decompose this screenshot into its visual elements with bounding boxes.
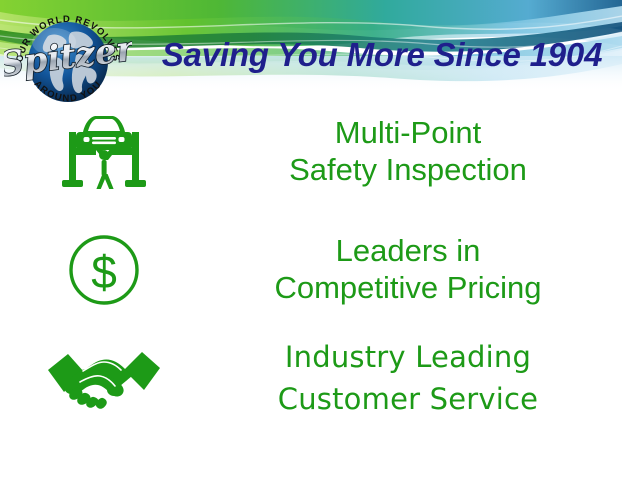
car-lift-icon-wrap	[0, 110, 208, 194]
dollar-circle-icon-wrap: $	[0, 230, 208, 310]
feature-line: Leaders in	[208, 233, 608, 270]
feature-line: Industry Leading	[208, 336, 608, 378]
feature-line: Competitive Pricing	[208, 270, 608, 307]
feature-text-inspection: Multi-Point Safety Inspection	[208, 115, 622, 188]
marketing-slide: OUR WORLD REVOLVES AROUND YOU Spitzer Sa…	[0, 0, 622, 483]
handshake-icon-wrap	[0, 342, 208, 414]
svg-text:Spitzer: Spitzer	[4, 29, 132, 86]
spitzer-logo: OUR WORLD REVOLVES AROUND YOU Spitzer	[4, 2, 132, 118]
car-lift-icon	[58, 110, 150, 194]
feature-line: Customer Service	[208, 378, 608, 420]
handshake-icon	[46, 342, 162, 414]
feature-line: Safety Inspection	[208, 152, 608, 189]
dollar-circle-icon: $	[64, 230, 144, 310]
page-title: Saving You More Since 1904	[148, 36, 616, 74]
feature-multi-point-safety-inspection: Multi-Point Safety Inspection	[0, 104, 622, 200]
feature-leaders-in-competitive-pricing: $ Leaders in Competitive Pricing	[0, 222, 622, 318]
svg-text:$: $	[91, 246, 117, 298]
feature-industry-leading-customer-service: Industry Leading Customer Service	[0, 330, 622, 426]
feature-text-pricing: Leaders in Competitive Pricing	[208, 233, 622, 306]
logo-wordmark: Spitzer	[4, 29, 132, 86]
feature-text-service: Industry Leading Customer Service	[208, 336, 622, 420]
feature-line: Multi-Point	[208, 115, 608, 152]
